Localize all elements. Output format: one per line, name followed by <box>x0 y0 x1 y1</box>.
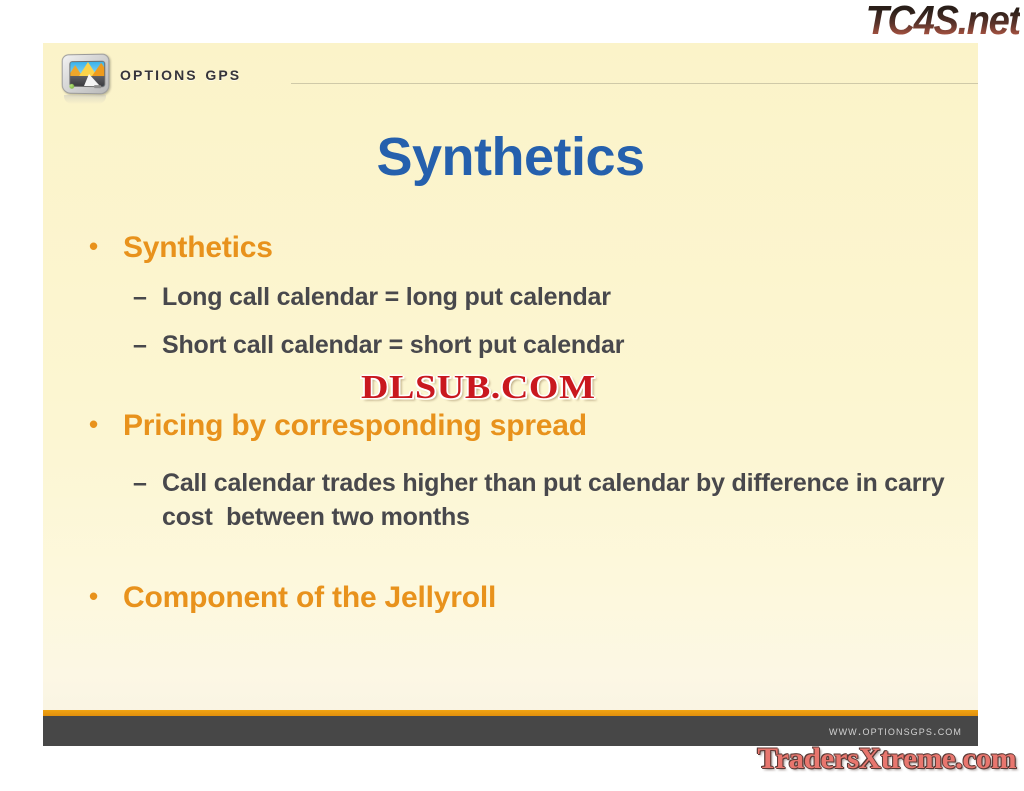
presentation-slide: Options GPS Synthetics Synthetics Long c… <box>43 43 978 746</box>
gps-reflection <box>64 95 106 104</box>
slide-header: Options GPS <box>43 43 978 105</box>
spacer <box>43 314 978 328</box>
bullet-level2: Short call calendar = short put calendar <box>43 328 978 362</box>
gps-device-icon <box>59 53 113 101</box>
slide-body: Synthetics Long call calendar = long put… <box>43 228 978 618</box>
gps-power-led <box>69 84 74 89</box>
bullet-level1: Component of the Jellyroll <box>43 578 978 618</box>
header-divider <box>291 83 978 84</box>
bullet-level2: Long call calendar = long put calendar <box>43 280 978 314</box>
bullet-level1: Pricing by corresponding spread <box>43 406 978 446</box>
slide-title: Synthetics <box>43 127 978 187</box>
gps-device-screen <box>69 61 105 88</box>
bullet-level2: Call calendar trades higher than put cal… <box>43 466 978 534</box>
footer-url: www.OptionsGPS.com <box>829 723 962 738</box>
brand-name: Options GPS <box>120 63 241 86</box>
tc4s-watermark: TC4S.net <box>866 0 1020 42</box>
spacer <box>43 534 978 578</box>
spacer <box>43 446 978 466</box>
gps-device-body <box>62 54 110 95</box>
spacer <box>43 268 978 280</box>
dlsub-watermark: DLSUB.COM <box>361 371 596 405</box>
gps-button <box>94 85 101 88</box>
bullet-level1: Synthetics <box>43 228 978 268</box>
tradersxtreme-watermark: TradersXtreme.com <box>757 743 1016 775</box>
